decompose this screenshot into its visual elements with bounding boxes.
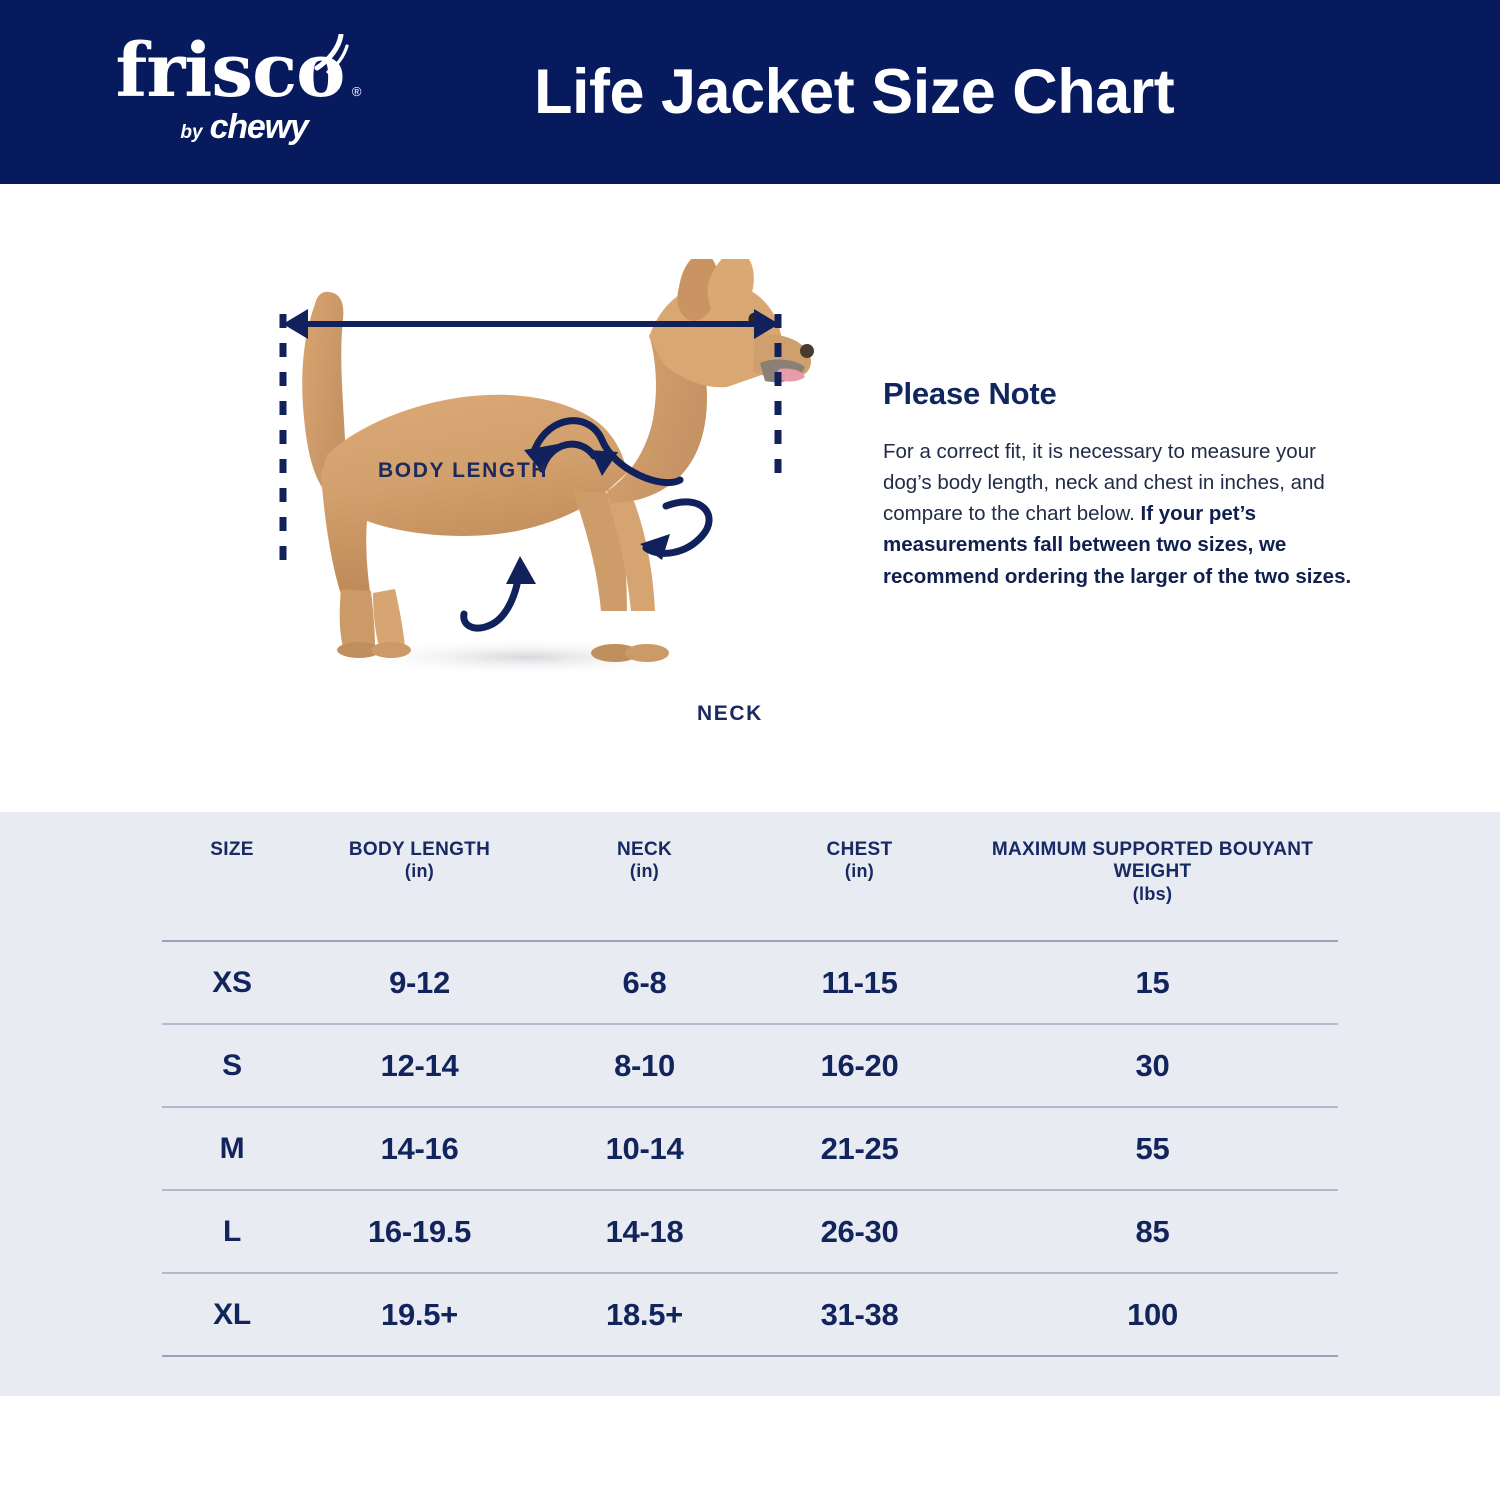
cell-max-weight: 55 (967, 1131, 1338, 1167)
cell-chest: 21-25 (752, 1131, 967, 1167)
brand-parent-label: chewy (210, 108, 308, 147)
column-header-max-weight: MAXIMUM SUPPORTED BOUYANT WEIGHT (lbs) (967, 839, 1338, 905)
column-header-max-weight-label: MAXIMUM SUPPORTED BOUYANT WEIGHT (992, 839, 1313, 882)
brand-by-label: by (180, 122, 202, 144)
column-header-neck: NECK (in) (537, 839, 752, 883)
note-title: Please Note (883, 376, 1353, 412)
cell-body-length: 16-19.5 (302, 1214, 537, 1250)
brand-parent-lockup: by chewy (180, 108, 307, 147)
table-row: S 12-14 8-10 16-20 30 (162, 1025, 1338, 1106)
please-note-block: Please Note For a correct fit, it is nec… (883, 376, 1353, 592)
column-header-max-weight-unit: (lbs) (967, 884, 1338, 905)
note-body: For a correct fit, it is necessary to me… (883, 436, 1353, 592)
dog-paw (625, 644, 669, 662)
measurement-diagram: BODY LENGTH NECK CHEST Please Note For a… (0, 184, 1500, 812)
brand-wordmark: frisco ® (115, 36, 344, 106)
dog-nose (800, 344, 814, 358)
note-paragraph: For a correct fit, it is necessary to me… (883, 440, 1325, 525)
dog-rear-leg-2 (373, 589, 405, 647)
swoosh-icon (311, 34, 351, 76)
cell-neck: 6-8 (537, 965, 752, 1001)
cell-chest: 11-15 (752, 965, 967, 1001)
column-header-body-length-label: BODY LENGTH (349, 839, 490, 860)
page-header: frisco ® by chewy Life Jacket Size Chart (0, 0, 1500, 184)
cell-max-weight: 15 (967, 965, 1338, 1001)
table-row: M 14-16 10-14 21-25 55 (162, 1108, 1338, 1189)
cell-neck: 10-14 (537, 1131, 752, 1167)
dog-rear-leg (340, 589, 375, 647)
cell-size: S (162, 1049, 302, 1083)
cell-chest: 26-30 (752, 1214, 967, 1250)
cell-body-length: 19.5+ (302, 1297, 537, 1333)
cell-max-weight: 100 (967, 1297, 1338, 1333)
column-header-chest: CHEST (in) (752, 839, 967, 883)
column-header-chest-unit: (in) (752, 861, 967, 882)
cell-size: M (162, 1132, 302, 1166)
cell-body-length: 14-16 (302, 1131, 537, 1167)
table-divider-bottom (162, 1355, 1338, 1357)
cell-max-weight: 85 (967, 1214, 1338, 1250)
page-title: Life Jacket Size Chart (534, 56, 1174, 128)
size-chart-page: frisco ® by chewy Life Jacket Size Chart (0, 0, 1500, 1500)
cell-neck: 18.5+ (537, 1297, 752, 1333)
cell-max-weight: 30 (967, 1048, 1338, 1084)
column-header-chest-label: CHEST (827, 839, 893, 860)
column-header-neck-unit: (in) (537, 861, 752, 882)
table-row: L 16-19.5 14-18 26-30 85 (162, 1191, 1338, 1272)
cell-chest: 31-38 (752, 1297, 967, 1333)
table-row: XS 9-12 6-8 11-15 15 (162, 942, 1338, 1023)
cell-body-length: 12-14 (302, 1048, 537, 1084)
column-header-neck-label: NECK (617, 839, 672, 860)
label-body-length: BODY LENGTH (378, 459, 548, 483)
column-header-size-label: SIZE (210, 839, 253, 860)
size-table: SIZE BODY LENGTH (in) NECK (in) CHEST (i… (162, 812, 1338, 1357)
registered-mark: ® (352, 86, 361, 98)
table-header-row: SIZE BODY LENGTH (in) NECK (in) CHEST (i… (162, 812, 1338, 940)
column-header-body-length-unit: (in) (302, 861, 537, 882)
cell-size: XL (162, 1298, 302, 1332)
dog-eye (749, 313, 762, 326)
cell-chest: 16-20 (752, 1048, 967, 1084)
size-table-section: SIZE BODY LENGTH (in) NECK (in) CHEST (i… (0, 812, 1500, 1396)
cell-body-length: 9-12 (302, 965, 537, 1001)
cell-size: L (162, 1215, 302, 1249)
cell-neck: 8-10 (537, 1048, 752, 1084)
column-header-body-length: BODY LENGTH (in) (302, 839, 537, 883)
cell-size: XS (162, 966, 302, 1000)
frisco-logo: frisco ® by chewy (80, 36, 380, 156)
column-header-size: SIZE (162, 839, 302, 861)
label-neck: NECK (697, 702, 763, 726)
dog-paw (371, 642, 411, 658)
table-row: XL 19.5+ 18.5+ 31-38 100 (162, 1274, 1338, 1355)
cell-neck: 14-18 (537, 1214, 752, 1250)
